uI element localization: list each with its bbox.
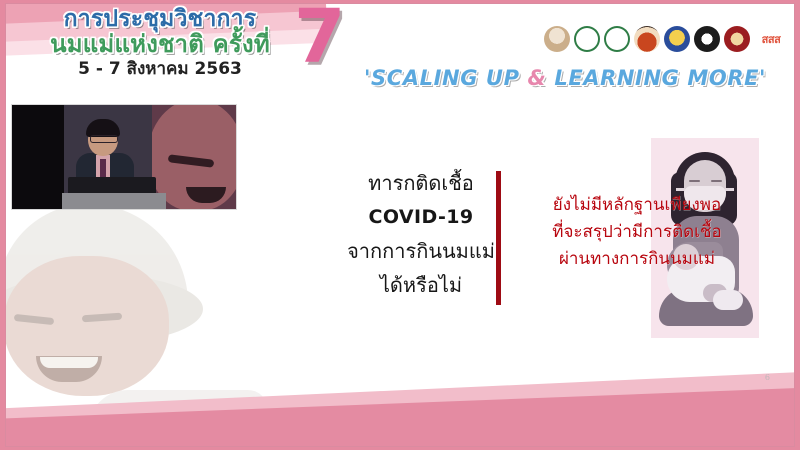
- mother-foot: [713, 290, 743, 310]
- tagline-part-2: LEARNING MORE': [546, 66, 766, 90]
- thaihealth-sss-logo: สสส: [754, 26, 788, 52]
- mother-eye-right: [711, 180, 722, 182]
- speaker-glasses-icon: [90, 135, 118, 143]
- slide-frame: การประชุมวิชาการ นมแม่แห่งชาติ ครั้งที่ …: [6, 4, 794, 446]
- answer-line-1: ยังไม่มีหลักฐานเพียงพอ: [506, 192, 768, 219]
- event-title-line-1: การประชุมวิชาการ: [20, 7, 300, 32]
- royal-emblem-logo: [544, 26, 570, 52]
- answer-line-2: ที่จะสรุปว่ามีการติดเชื้อ: [506, 219, 768, 246]
- question-line-1: ทารกติดเชื้อ: [336, 166, 506, 200]
- red-vertical-divider: [496, 171, 501, 305]
- question-line-4: ได้หรือไม่: [336, 268, 506, 302]
- red-crest-logo: [724, 26, 750, 52]
- event-date: 5 - 7 สิงหาคม 2563: [20, 59, 300, 79]
- slide-body: ทารกติดเชื้อ COVID-19 จากการกินนมแม่ ได้…: [6, 96, 794, 446]
- baby-teeth: [40, 357, 98, 368]
- answer-line-3: ผ่านทางการกินนมแม่: [506, 246, 768, 273]
- event-title: การประชุมวิชาการ นมแม่แห่งชาติ ครั้งที่ …: [20, 7, 300, 79]
- presentation-stage: การประชุมวิชาการ นมแม่แห่งชาติ ครั้งที่ …: [0, 0, 800, 450]
- speaker-presentation-video[interactable]: [12, 105, 236, 209]
- face-mask-strap-right: [725, 188, 734, 191]
- ministry-public-health-logo: [574, 26, 600, 52]
- question-line-2: COVID-19: [336, 200, 506, 234]
- question-line-3: จากการกินนมแม่: [336, 234, 506, 268]
- sponsor-logo-strip: สสส: [544, 22, 788, 56]
- event-tagline: 'SCALING UP & LEARNING MORE': [364, 66, 766, 90]
- mother-eye-left: [689, 180, 700, 182]
- slide-page-number: 6: [765, 373, 770, 382]
- slide-header: การประชุมวิชาการ นมแม่แห่งชาติ ครั้งที่ …: [6, 4, 794, 96]
- question-text-block: ทารกติดเชื้อ COVID-19 จากการกินนมแม่ ได้…: [336, 166, 506, 302]
- video-wall-left: [12, 105, 64, 209]
- speaker-podium-base: [62, 193, 166, 209]
- tagline-part-1: 'SCALING UP: [364, 66, 528, 90]
- university-seal-logo: [634, 26, 660, 52]
- department-health-logo: [604, 26, 630, 52]
- edition-number: 7: [294, 4, 346, 74]
- answer-text-block: ยังไม่มีหลักฐานเพียงพอ ที่จะสรุปว่ามีการ…: [506, 192, 768, 273]
- black-garuda-logo: [694, 26, 720, 52]
- event-title-line-2: นมแม่แห่งชาติ ครั้งที่: [20, 32, 300, 57]
- tagline-ampersand: &: [528, 66, 547, 90]
- royal-college-logo: [664, 26, 690, 52]
